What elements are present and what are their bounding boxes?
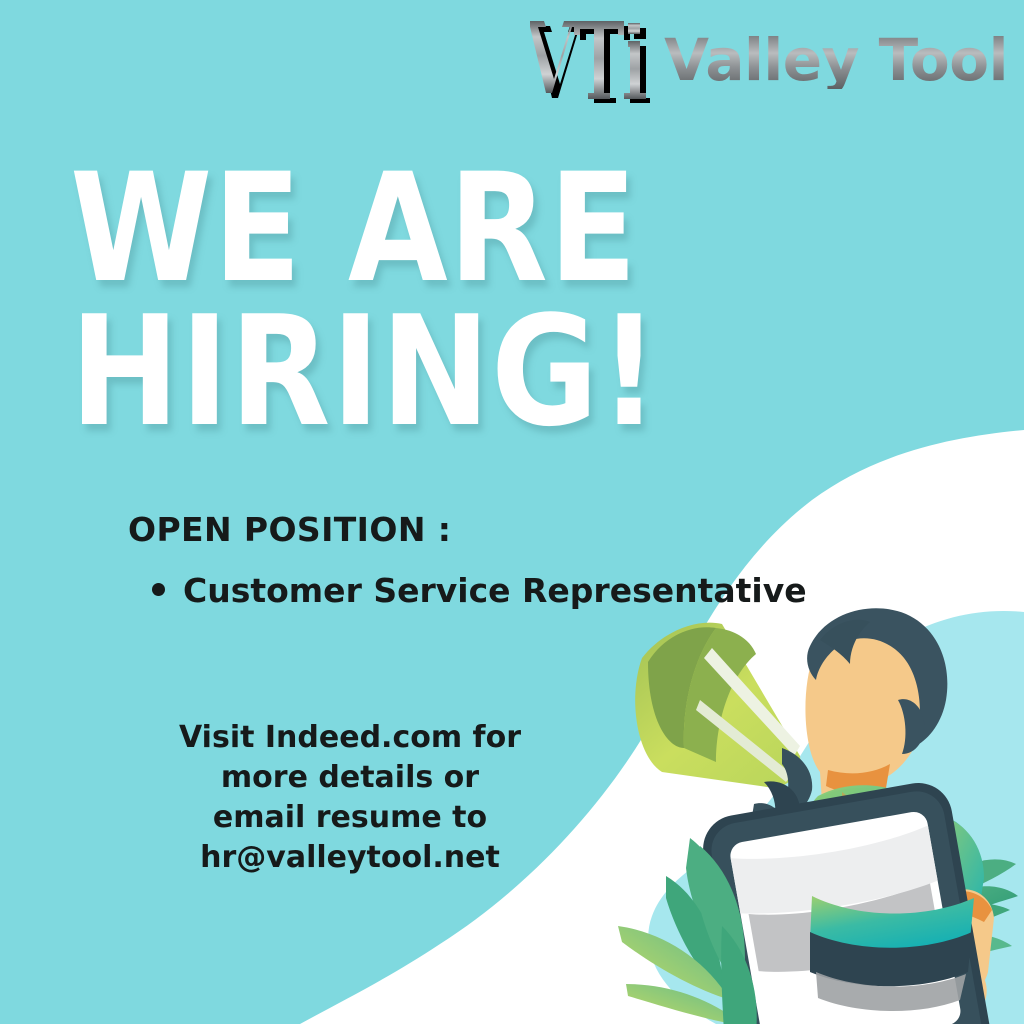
brand-logo: Valley Tool [528,14,1008,106]
headline: WE ARE HIRING! [70,163,690,439]
megaphone-person-phone-illustration [604,596,1024,1024]
illustration [604,596,1024,1024]
contact-block: Visit Indeed.com for more details or ema… [155,718,545,878]
bullet-icon [152,583,165,596]
open-position-block: OPEN POSITION : Customer Service Represe… [128,510,807,610]
vti-monogram-icon [528,17,650,103]
hiring-poster: Valley Tool WE ARE HIRING! OPEN POSITION… [0,0,1024,1024]
headline-line-1: WE ARE [70,163,603,295]
contact-line-3: email resume to [155,798,545,838]
headline-line-2: HIRING! [70,305,603,439]
contact-line-2: more details or [155,758,545,798]
contact-email: hr@valleytool.net [155,838,545,878]
contact-line-1: Visit Indeed.com for [155,718,545,758]
brand-wordmark: Valley Tool [664,31,1008,89]
open-position-title: OPEN POSITION : [128,510,807,549]
